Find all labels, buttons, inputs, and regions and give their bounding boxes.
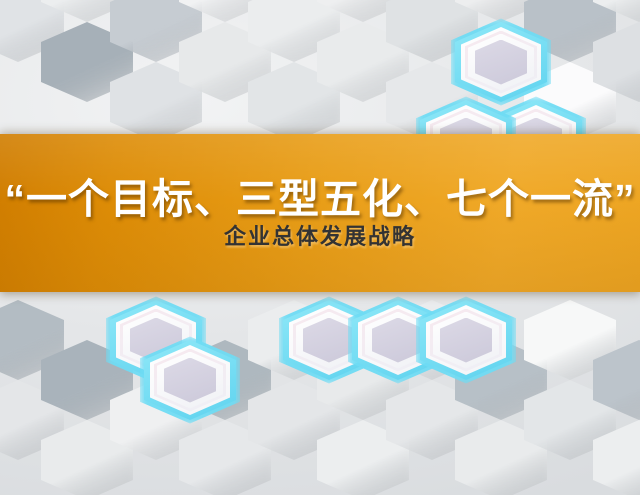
slide-canvas: “一个目标、三型五化、七个一流” 企业总体发展战略 bbox=[0, 0, 640, 495]
page-subtitle: 企业总体发展战略 bbox=[224, 226, 416, 248]
title-banner: “一个目标、三型五化、七个一流” 企业总体发展战略 bbox=[0, 134, 640, 292]
glowing-hexagon bbox=[420, 300, 512, 380]
page-title: “一个目标、三型五化、七个一流” bbox=[5, 179, 636, 220]
glowing-hexagon bbox=[455, 22, 547, 102]
glowing-hexagon bbox=[144, 340, 236, 420]
